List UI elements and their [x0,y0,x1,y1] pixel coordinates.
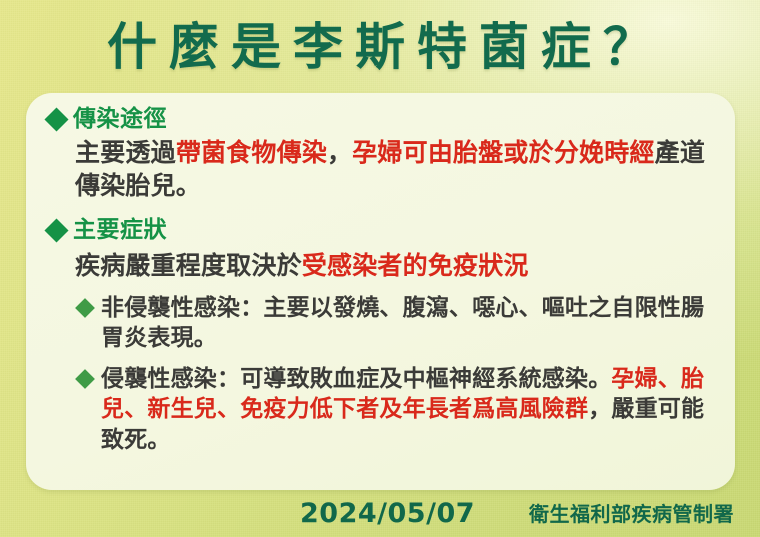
list-item-text: 非侵襲性感染：主要以發燒、腹瀉、噁心、嘔吐之自限性腸胃炎表現。 [101,293,713,354]
body-run: 非侵襲性感染：主要以發燒、腹瀉、噁心、嘔吐之自限性腸胃炎表現。 [101,295,704,352]
footer-date: 2024/05/07 [300,499,475,529]
diamond-bullet-icon [75,298,95,318]
section-heading-label: 傳染途徑 [73,107,167,132]
section-symptoms: 主要症狀 疾病嚴重程度取決於受感染者的免疫狀況 非侵襲性感染：主要以發燒、腹瀉、… [48,218,713,455]
diamond-bullet-icon [44,219,68,243]
section-transmission: 傳染途徑 主要透過帶菌食物傳染，孕婦可由胎盤或於分娩時經產道傳染胎兒。 [48,107,713,202]
body-run: 疾病嚴重程度取決於 [75,251,302,280]
body-run: ， [327,138,352,167]
section-body-symptoms: 疾病嚴重程度取決於受感染者的免疫狀況 [75,249,713,282]
diamond-bullet-icon [44,108,68,132]
body-run-highlight: 孕婦可由胎盤或於分娩時經 [352,138,654,167]
poster-root: 什麼是李斯特菌症？ 傳染途徑 主要透過帶菌食物傳染，孕婦可由胎盤或於分娩時經產道… [0,0,760,537]
section-heading-label: 主要症狀 [73,218,167,243]
poster-footer: 2024/05/07 衛生福利部疾病管制署 [0,496,760,537]
page-title: 什麼是李斯特菌症？ [95,22,665,72]
poster-title-bar: 什麼是李斯特菌症？ [0,10,760,84]
content-card: 傳染途徑 主要透過帶菌食物傳染，孕婦可由胎盤或於分娩時經產道傳染胎兒。 主要症狀… [26,93,735,490]
footer-organization: 衛生福利部疾病管制署 [529,503,734,525]
body-run-highlight: 受感染者的免疫狀況 [302,251,529,280]
list-item: 非侵襲性感染：主要以發燒、腹瀉、噁心、嘔吐之自限性腸胃炎表現。 [78,293,713,354]
list-item-text: 侵襲性感染：可導致敗血症及中樞神經系統感染。孕婦、胎兒、新生兒、免疫力低下者及年… [101,364,713,456]
list-item: 侵襲性感染：可導致敗血症及中樞神經系統感染。孕婦、胎兒、新生兒、免疫力低下者及年… [78,364,713,456]
body-run-highlight: 帶菌食物傳染 [176,138,327,167]
section-heading-symptoms: 主要症狀 [48,218,713,243]
diamond-bullet-icon [75,369,95,389]
section-body-transmission: 主要透過帶菌食物傳染，孕婦可由胎盤或於分娩時經產道傳染胎兒。 [75,136,713,202]
symptom-sub-list: 非侵襲性感染：主要以發燒、腹瀉、噁心、嘔吐之自限性腸胃炎表現。 侵襲性感染：可導… [78,293,713,456]
body-run: 侵襲性感染：可導致敗血症及中樞神經系統感染。 [101,366,611,392]
section-heading-transmission: 傳染途徑 [48,107,713,132]
body-run: 主要透過 [75,138,176,167]
